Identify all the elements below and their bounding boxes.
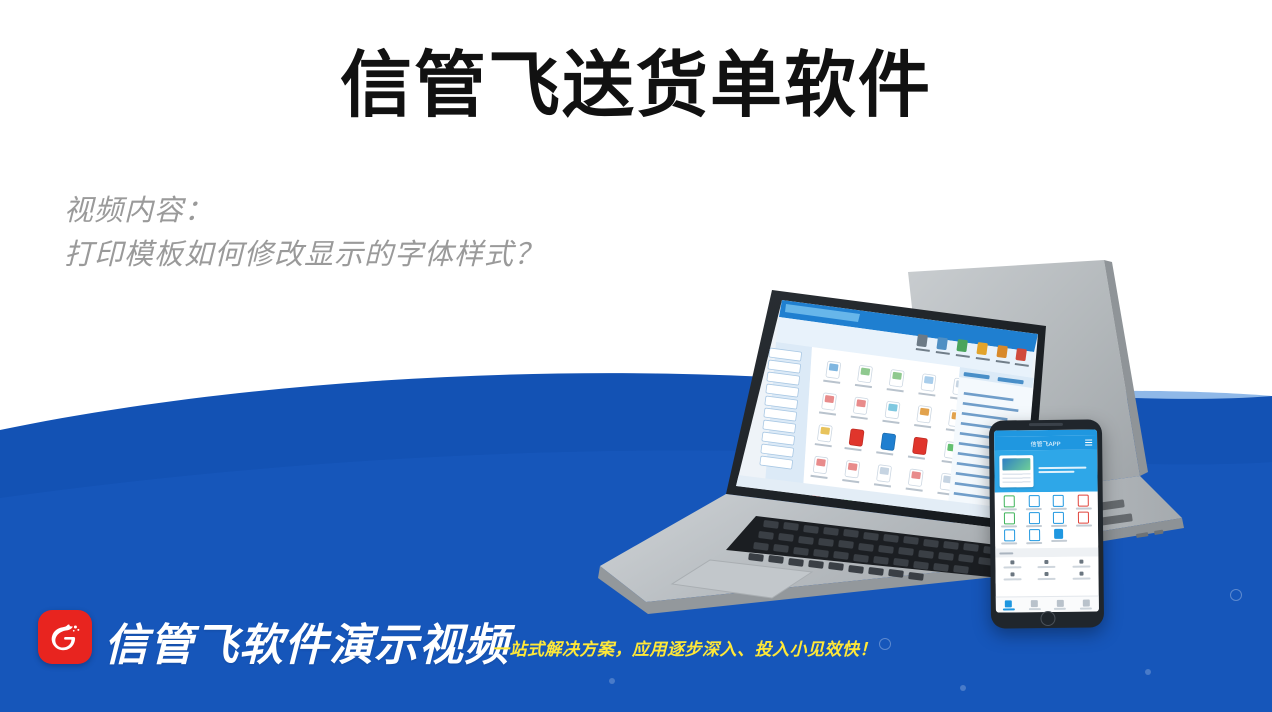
mobile-app-header: 信管飞APP xyxy=(994,435,1097,450)
grid-item[interactable] xyxy=(1071,494,1096,509)
grid-item[interactable] xyxy=(1022,529,1047,544)
slide-canvas: 信管飞送货单软件 视频内容： 打印模板如何修改显示的字体样式？ xyxy=(0,0,1272,712)
purchase-inbound-icon xyxy=(1029,512,1040,524)
purchase-detail-icon xyxy=(1053,512,1064,524)
stat-item[interactable] xyxy=(1030,560,1064,568)
grid-item[interactable] xyxy=(997,512,1022,527)
decor-circle xyxy=(1230,589,1242,601)
phone-speaker xyxy=(1028,423,1062,426)
grid-item[interactable] xyxy=(1047,529,1072,544)
mobile-function-grid xyxy=(995,491,1099,546)
purchase-return-icon xyxy=(1078,512,1089,524)
stat-item[interactable] xyxy=(1064,559,1098,567)
promo-banner-text xyxy=(1038,467,1092,476)
mobile-stats-grid xyxy=(995,556,1098,583)
stat-item[interactable] xyxy=(1030,572,1064,580)
decor-circle xyxy=(1145,669,1151,675)
brand-title: 信管飞软件演示视频 xyxy=(104,624,509,668)
grid-item[interactable] xyxy=(997,495,1022,510)
subtitle-line-1: 视频内容： xyxy=(64,188,764,232)
stat-item[interactable] xyxy=(995,560,1029,568)
sales-outbound-icon xyxy=(1028,495,1039,507)
grid-item[interactable] xyxy=(1046,495,1071,510)
phone-screen: 信管飞APP xyxy=(994,429,1099,612)
brand-tagline: 一站式解决方案，应用逐步深入、投入小见效快！ xyxy=(492,635,877,660)
device-cluster: 信管飞APP xyxy=(560,240,1272,640)
sales-order-icon xyxy=(1004,495,1015,507)
decor-circle xyxy=(609,678,615,684)
bank-receipt-icon xyxy=(1029,529,1040,541)
mobile-promo-banner xyxy=(994,449,1097,492)
grid-item[interactable] xyxy=(1046,512,1071,527)
grid-item[interactable] xyxy=(1022,512,1047,527)
stat-item[interactable] xyxy=(996,572,1030,580)
grid-item[interactable] xyxy=(1021,495,1046,510)
decor-circle xyxy=(960,685,966,691)
purchase-order-icon xyxy=(1004,512,1015,524)
grid-item[interactable] xyxy=(1071,511,1096,526)
decor-circle xyxy=(879,638,891,650)
grid-item[interactable] xyxy=(997,529,1022,544)
sales-detail-icon xyxy=(1053,495,1064,507)
stat-item[interactable] xyxy=(1064,571,1098,579)
more-apps-icon xyxy=(1054,529,1063,539)
xinguanfei-bird-logo-icon xyxy=(38,610,92,664)
bottom-banner: 信管飞软件演示视频 一站式解决方案，应用逐步深入、投入小见效快！ xyxy=(0,602,1272,712)
hamburger-menu-icon[interactable] xyxy=(1085,440,1092,446)
page-title: 信管飞送货单软件 xyxy=(0,46,1272,125)
stock-count-icon xyxy=(1004,529,1015,541)
mobile-app-title: 信管飞APP xyxy=(1031,438,1061,447)
sales-return-icon xyxy=(1078,495,1089,507)
smartphone-with-mobile-app: 信管飞APP xyxy=(989,419,1104,628)
promo-device-card-icon xyxy=(999,455,1033,487)
